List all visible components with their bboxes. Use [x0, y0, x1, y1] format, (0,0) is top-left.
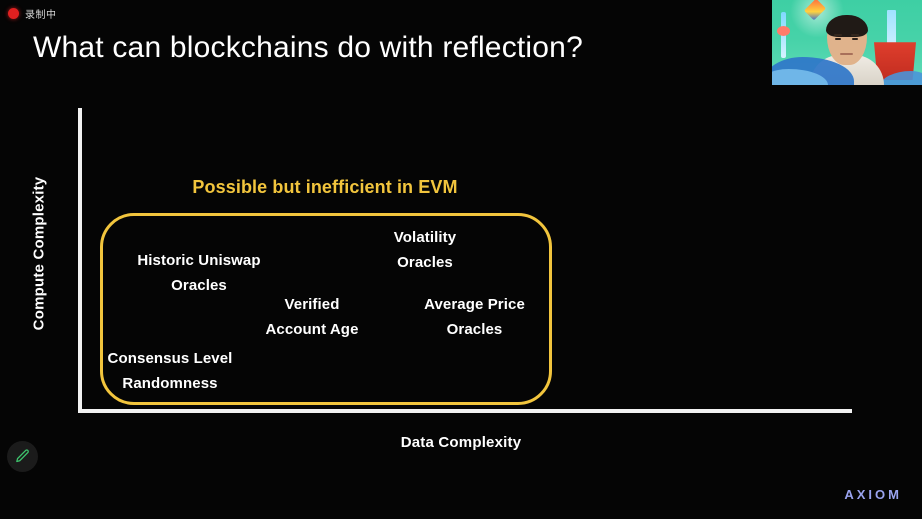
chart-item-historic-uniswap-oracles: Historic Uniswap Oracles	[128, 248, 270, 298]
y-axis-label: Compute Complexity	[31, 159, 48, 349]
chart-item-verified-account-age: Verified Account Age	[257, 292, 367, 342]
region-caption: Possible but inefficient in EVM	[100, 177, 550, 198]
recording-indicator: 录制中	[8, 5, 57, 21]
brand-logo: AXIOM	[844, 487, 902, 502]
recording-label: 录制中	[25, 6, 57, 21]
x-axis-label: Data Complexity	[0, 434, 922, 451]
page-title: What can blockchains do with reflection?	[33, 31, 583, 65]
webcam-background-tower-left-icon	[781, 12, 786, 58]
chart-item-line: Historic Uniswap	[128, 248, 270, 273]
annotate-button[interactable]	[7, 441, 38, 472]
chart-item-line: Oracles	[416, 317, 533, 342]
recording-dot-icon	[8, 8, 19, 19]
chart-item-line: Account Age	[257, 317, 367, 342]
chart-item-volatility-oracles: Volatility Oracles	[386, 225, 464, 275]
pen-icon	[14, 448, 31, 465]
webcam-person-hair	[826, 15, 868, 37]
webcam-person-brow	[834, 34, 842, 36]
y-axis-line	[78, 108, 82, 413]
presentation-slide: 录制中 What can blockchains do with reflect…	[0, 0, 922, 519]
webcam-person-mouth	[840, 53, 853, 55]
webcam-overlay[interactable]	[772, 0, 922, 85]
x-axis-line	[78, 409, 852, 413]
chart-item-average-price-oracles: Average Price Oracles	[416, 292, 533, 342]
chart-item-line: Verified	[257, 292, 367, 317]
webcam-person-eye	[835, 38, 841, 40]
chart-item-line: Consensus Level	[100, 346, 240, 371]
chart-item-line: Oracles	[128, 273, 270, 298]
chart-item-line: Average Price	[416, 292, 533, 317]
chart-item-line: Volatility	[386, 225, 464, 250]
chart-item-consensus-level-randomness: Consensus Level Randomness	[100, 346, 240, 396]
webcam-person-eye	[852, 38, 858, 40]
chart-item-line: Randomness	[100, 371, 240, 396]
chart-item-line: Oracles	[386, 250, 464, 275]
webcam-person-brow	[851, 34, 859, 36]
